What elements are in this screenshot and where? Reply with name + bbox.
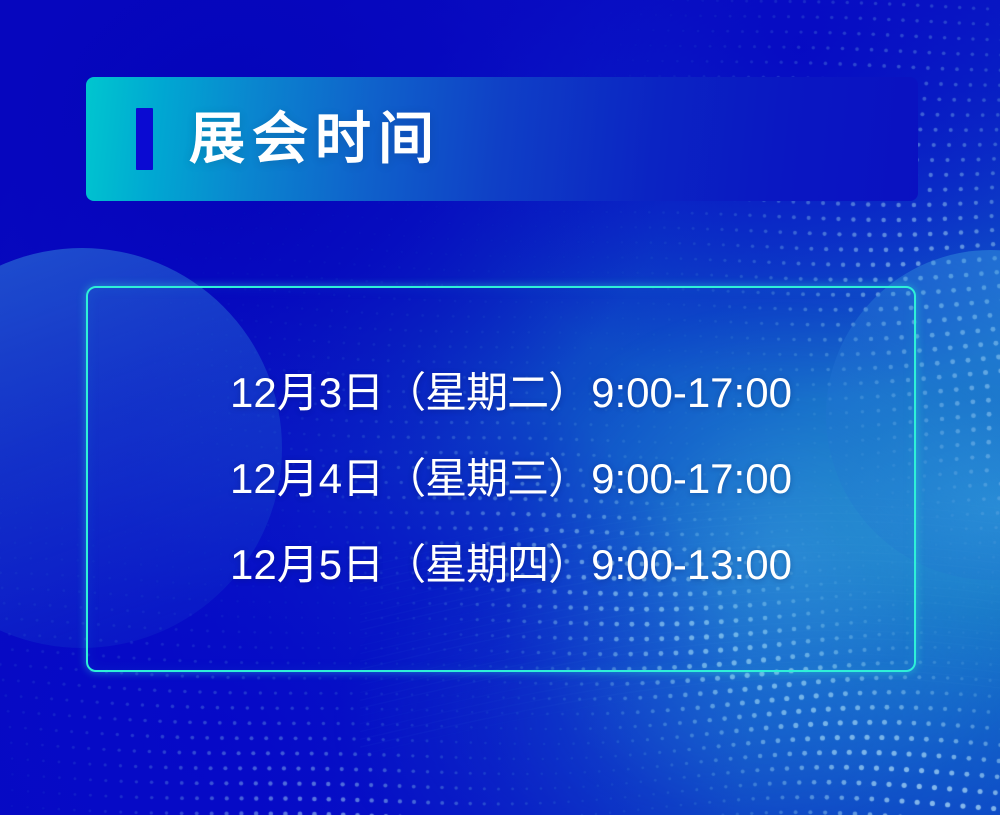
schedule-time: 9:00-13:00 (591, 541, 792, 588)
schedule-date: 12月4日 (230, 455, 384, 502)
schedule-time: 9:00-17:00 (591, 369, 792, 416)
page-title: 展会时间 (189, 111, 441, 167)
banner-accent-bar (136, 108, 153, 170)
title-banner: 展会时间 (86, 77, 918, 201)
schedule-frame: 12月3日（星期二）9:00-17:00 12月4日（星期三）9:00-17:0… (86, 286, 916, 672)
schedule-weekday: （星期四） (384, 541, 589, 588)
schedule-date: 12月3日 (230, 369, 384, 416)
schedule-weekday: （星期二） (384, 369, 589, 416)
schedule-row: 12月5日（星期四）9:00-13:00 (230, 544, 792, 586)
schedule-time: 9:00-17:00 (591, 455, 792, 502)
schedule-date: 12月5日 (230, 541, 384, 588)
schedule-row: 12月3日（星期二）9:00-17:00 (230, 372, 792, 414)
schedule-row: 12月4日（星期三）9:00-17:00 (230, 458, 792, 500)
schedule-weekday: （星期三） (384, 455, 589, 502)
poster-canvas: 展会时间 12月3日（星期二）9:00-17:00 12月4日（星期三）9:00… (0, 0, 1000, 815)
